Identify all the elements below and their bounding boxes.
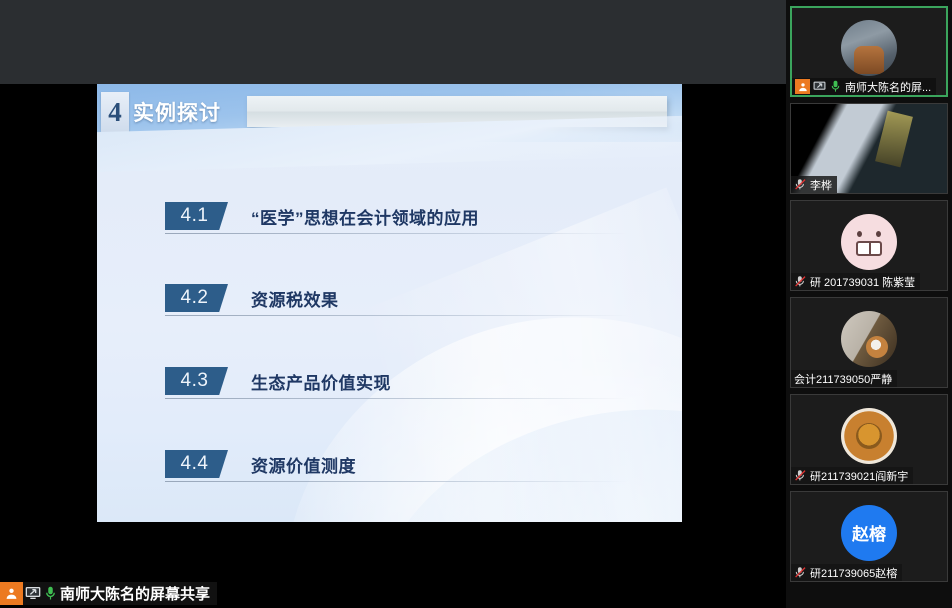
slide-header-band: 4 实例探讨 bbox=[97, 84, 682, 142]
mic-on-icon bbox=[43, 582, 58, 605]
participant-tile[interactable]: 研 201739031 陈紫莹 bbox=[790, 200, 948, 291]
avatar: 赵榕 bbox=[841, 505, 897, 561]
participant-name: 南师大陈名的屏... bbox=[845, 79, 931, 95]
participant-tile[interactable]: 李桦 bbox=[790, 103, 948, 194]
stage-top-letterbox bbox=[0, 0, 786, 84]
mic-muted-icon bbox=[794, 275, 807, 288]
avatar bbox=[841, 311, 897, 367]
participant-label: 研 201739031 陈紫莹 bbox=[791, 273, 920, 290]
participant-tile[interactable]: 赵榕 研211739065赵榕 bbox=[790, 491, 948, 582]
chapter-number-badge: 4 bbox=[101, 92, 129, 132]
agenda-number-badge: 4.3 bbox=[165, 367, 228, 395]
agenda-row: 4.2 资源税效果 bbox=[165, 284, 628, 324]
slide-title: 实例探讨 bbox=[133, 97, 221, 127]
agenda-item-label: 资源税效果 bbox=[251, 286, 339, 311]
agenda-item-label: 资源价值测度 bbox=[251, 452, 356, 477]
participant-label: 研211739065赵榕 bbox=[791, 564, 902, 581]
agenda-number-badge: 4.1 bbox=[165, 202, 228, 230]
avatar bbox=[841, 408, 897, 464]
participant-tile[interactable]: 会计211739050严静 bbox=[790, 297, 948, 388]
avatar bbox=[841, 20, 897, 76]
participant-label: 研211739021阎新宇 bbox=[791, 467, 913, 484]
agenda-number-badge: 4.2 bbox=[165, 284, 228, 312]
screen-share-label: 南师大陈名的屏幕共享 bbox=[58, 583, 217, 604]
agenda-item-label: 生态产品价值实现 bbox=[251, 369, 391, 394]
participant-label: 李桦 bbox=[791, 176, 837, 193]
participants-sidebar[interactable]: 南师大陈名的屏... 李桦 bbox=[786, 0, 952, 608]
screen-share-icon bbox=[23, 582, 43, 605]
screen-share-chip[interactable]: 南师大陈名的屏幕共享 bbox=[0, 582, 217, 605]
agenda-row: 4.4 资源价值测度 bbox=[165, 450, 628, 490]
agenda-number-badge: 4.4 bbox=[165, 450, 228, 478]
mic-muted-icon bbox=[794, 566, 807, 579]
participant-tile[interactable]: 南师大陈名的屏... bbox=[790, 6, 948, 97]
mic-muted-icon bbox=[794, 178, 807, 191]
agenda-divider bbox=[165, 398, 628, 399]
participant-name: 研211739065赵榕 bbox=[810, 565, 897, 581]
screen-share-status-bar: 南师大陈名的屏幕共享 bbox=[0, 578, 786, 608]
slide-header-plate bbox=[247, 96, 667, 127]
participant-label: 会计211739050严静 bbox=[791, 370, 897, 387]
screen-share-icon bbox=[813, 80, 826, 93]
agenda-divider bbox=[165, 233, 628, 234]
agenda-row: 4.1 “医学”思想在会计领域的应用 bbox=[165, 202, 628, 242]
participant-name: 李桦 bbox=[810, 177, 832, 193]
mic-muted-icon bbox=[794, 469, 807, 482]
participant-name: 会计211739050严静 bbox=[794, 371, 892, 387]
participant-name: 研 201739031 陈紫莹 bbox=[810, 274, 915, 290]
avatar bbox=[841, 214, 897, 270]
agenda-row: 4.3 生态产品价值实现 bbox=[165, 367, 628, 407]
person-icon bbox=[0, 582, 23, 605]
participant-tile[interactable]: 研211739021阎新宇 bbox=[790, 394, 948, 485]
agenda-item-label: “医学”思想在会计领域的应用 bbox=[251, 204, 479, 229]
participant-name: 研211739021阎新宇 bbox=[810, 468, 908, 484]
agenda-divider bbox=[165, 481, 628, 482]
mic-on-icon bbox=[829, 80, 842, 93]
agenda-divider bbox=[165, 315, 628, 316]
shared-screen-stage: 4 实例探讨 4.1 “医学”思想在会计领域的应用 4.2 资源税效果 4.3 … bbox=[0, 0, 786, 608]
person-icon bbox=[795, 79, 810, 94]
participant-label: 南师大陈名的屏... bbox=[792, 78, 936, 95]
presentation-slide: 4 实例探讨 4.1 “医学”思想在会计领域的应用 4.2 资源税效果 4.3 … bbox=[97, 84, 682, 522]
